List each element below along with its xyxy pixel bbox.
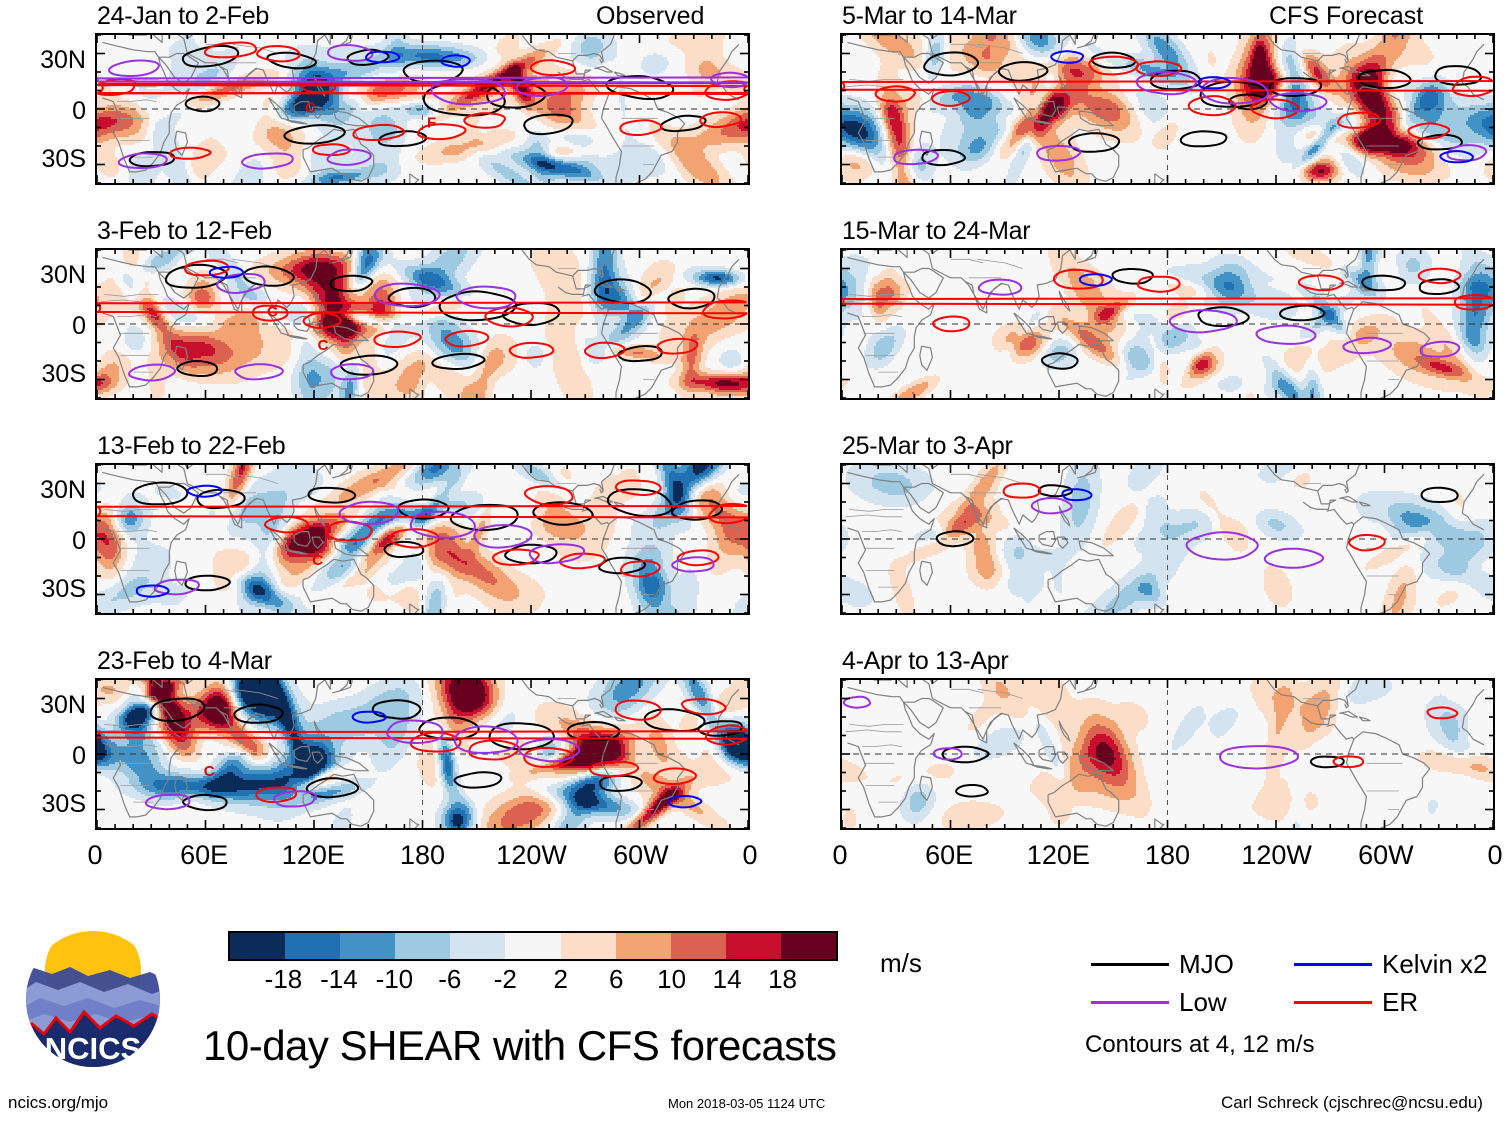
map-svg [842, 465, 1493, 613]
x-tick-label: 0 [1445, 840, 1510, 871]
map-svg: CF [97, 35, 748, 183]
panel-title: 4-Apr to 13-Apr [842, 647, 1008, 676]
colorbar-units-label: m/s [880, 948, 922, 979]
colorbar-swatch [395, 933, 450, 959]
footer-center: Mon 2018-03-05 1124 UTC [668, 1096, 825, 1111]
map-plot[interactable]: CF [95, 33, 750, 185]
y-tick-label: 0 [6, 742, 86, 771]
x-tick-label: 60W [1336, 840, 1436, 871]
storm-marker: F [427, 115, 436, 132]
x-tick-label: 60W [591, 840, 691, 871]
y-tick-label: 30S [6, 145, 86, 174]
colorbar-tick-label: 6 [586, 964, 646, 995]
x-tick-label: 180 [373, 840, 473, 871]
colorbar-tick-label: -2 [475, 964, 535, 995]
logo-text: NCICS [45, 1031, 141, 1066]
colorbar-swatch [616, 933, 671, 959]
colorbar-swatch [726, 933, 781, 959]
page-title: 10-day SHEAR with CFS forecasts [203, 1022, 836, 1070]
panel-title: 25-Mar to 3-Apr [842, 432, 1013, 461]
map-plot[interactable]: C [95, 463, 750, 615]
map-plot[interactable] [840, 248, 1495, 400]
x-tick-label: 180 [1118, 840, 1218, 871]
panel-corner-label: Observed [596, 2, 704, 31]
colorbar-tick-label: 10 [642, 964, 702, 995]
ncics-logo: NCICS [18, 928, 168, 1070]
colorbar-tick-label: -14 [309, 964, 369, 995]
colorbar-tick-label: 18 [753, 964, 813, 995]
panel-title: 23-Feb to 4-Mar [97, 647, 272, 676]
y-tick-label: 30S [6, 360, 86, 389]
y-tick-label: 30N [6, 261, 86, 290]
panel-corner-label: CFS Forecast [1269, 2, 1423, 31]
x-tick-label: 60E [154, 840, 254, 871]
legend-swatch-line [1091, 1001, 1169, 1004]
colorbar-swatch [781, 933, 836, 959]
map-svg: C [97, 680, 748, 828]
legend-label: Kelvin x2 [1382, 949, 1488, 980]
y-tick-label: 0 [6, 312, 86, 341]
legend-label: ER [1382, 987, 1418, 1018]
colorbar[interactable] [228, 931, 838, 961]
x-tick-label: 120E [1008, 840, 1108, 871]
map-svg: C [97, 465, 748, 613]
colorbar-tick-label: 14 [697, 964, 757, 995]
x-tick-label: 0 [700, 840, 800, 871]
y-tick-label: 30N [6, 46, 86, 75]
colorbar-swatch [230, 933, 285, 959]
colorbar-tick-label: 2 [531, 964, 591, 995]
panel-title: 24-Jan to 2-Feb [97, 2, 269, 31]
colorbar-swatch [450, 933, 505, 959]
colorbar-swatch [671, 933, 726, 959]
map-svg [842, 680, 1493, 828]
y-tick-label: 0 [6, 97, 86, 126]
map-plot[interactable]: CC [95, 248, 750, 400]
storm-marker: C [267, 304, 278, 321]
y-tick-label: 30S [6, 575, 86, 604]
colorbar-tick-label: -18 [253, 964, 313, 995]
y-tick-label: 30N [6, 691, 86, 720]
footer-left[interactable]: ncics.org/mjo [8, 1093, 108, 1113]
colorbar-swatch [285, 933, 340, 959]
map-plot[interactable]: C [95, 678, 750, 830]
storm-marker: C [305, 100, 316, 117]
x-tick-label: 0 [790, 840, 890, 871]
ncics-logo-svg: NCICS [18, 928, 168, 1070]
colorbar-swatch [561, 933, 616, 959]
footer-right: Carl Schreck (cjschrec@ncsu.edu) [1221, 1093, 1483, 1113]
storm-marker: C [204, 763, 215, 780]
map-svg [842, 35, 1493, 183]
map-plot[interactable] [840, 33, 1495, 185]
panel-title: 13-Feb to 22-Feb [97, 432, 285, 461]
x-tick-label: 0 [45, 840, 145, 871]
x-tick-label: 120E [263, 840, 363, 871]
panel-title: 3-Feb to 12-Feb [97, 217, 272, 246]
legend-swatch-line [1091, 963, 1169, 966]
x-tick-label: 120W [482, 840, 582, 871]
contour-note: Contours at 4, 12 m/s [1085, 1031, 1314, 1059]
legend-swatch-line [1294, 963, 1372, 966]
map-svg [842, 250, 1493, 398]
panel-title: 15-Mar to 24-Mar [842, 217, 1030, 246]
y-tick-label: 0 [6, 527, 86, 556]
colorbar-tick-label: -6 [420, 964, 480, 995]
map-plot[interactable] [840, 678, 1495, 830]
legend-label: MJO [1179, 949, 1234, 980]
x-tick-label: 120W [1227, 840, 1327, 871]
colorbar-tick-label: -10 [364, 964, 424, 995]
panel-title: 5-Mar to 14-Mar [842, 2, 1017, 31]
storm-marker: C [318, 337, 329, 354]
y-tick-label: 30N [6, 476, 86, 505]
storm-marker: C [312, 552, 323, 569]
colorbar-swatch [340, 933, 395, 959]
legend-label: Low [1179, 987, 1227, 1018]
x-tick-label: 60E [899, 840, 999, 871]
figure-canvas: 24-Jan to 2-Feb Observed CF 30N 0 30S 3-… [0, 0, 1510, 1121]
legend-swatch-line [1294, 1001, 1372, 1004]
map-plot[interactable] [840, 463, 1495, 615]
map-svg: CC [97, 250, 748, 398]
y-tick-label: 30S [6, 790, 86, 819]
colorbar-swatch [505, 933, 560, 959]
